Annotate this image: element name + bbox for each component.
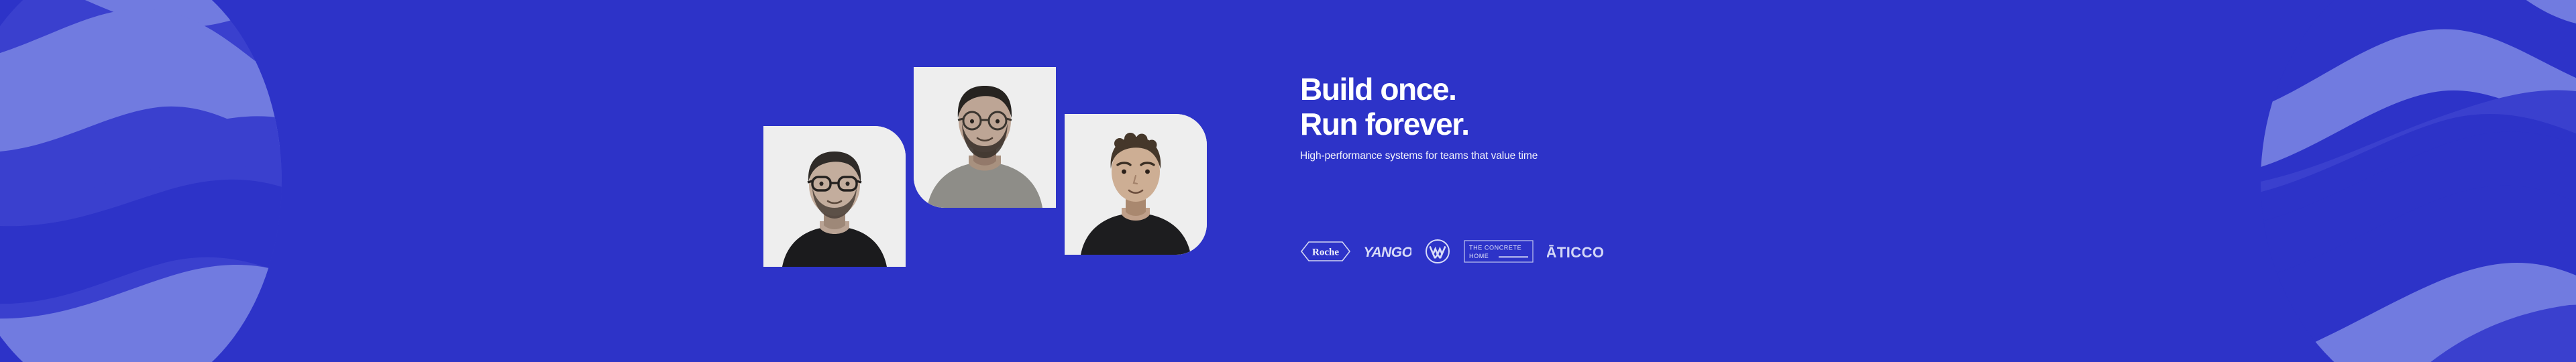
hero-subheadline: High-performance systems for teams that … bbox=[1300, 150, 1729, 162]
headline-line-1: Build once. bbox=[1300, 72, 1729, 107]
roche-wordmark: Roche bbox=[1312, 247, 1339, 258]
hero-banner: Build once. Run forever. High-performanc… bbox=[0, 0, 2576, 362]
portrait-photo bbox=[763, 126, 906, 267]
hero-copy: Build once. Run forever. High-performanc… bbox=[1300, 72, 1729, 162]
portrait-photo bbox=[1065, 114, 1207, 255]
aticco-logo[interactable]: ĀTICCO bbox=[1547, 237, 1603, 265]
volkswagen-logo[interactable] bbox=[1425, 237, 1450, 265]
the-concrete-home-logo[interactable]: THE CONCRETE HOME bbox=[1464, 237, 1534, 265]
hero-content: Build once. Run forever. High-performanc… bbox=[0, 0, 2576, 362]
page-title: Build once. Run forever. bbox=[1300, 72, 1729, 141]
yango-wordmark: YANGO bbox=[1364, 245, 1411, 260]
yango-logo[interactable]: YANGO bbox=[1364, 237, 1411, 265]
concrete-home-line-1: THE CONCRETE bbox=[1469, 245, 1521, 251]
team-photo-card-3[interactable] bbox=[1065, 114, 1207, 255]
aticco-wordmark: ĀTICCO bbox=[1547, 244, 1603, 261]
team-photo-card-2[interactable] bbox=[914, 67, 1056, 208]
headline-line-2: Run forever. bbox=[1300, 107, 1729, 142]
portrait-photo bbox=[914, 67, 1056, 208]
client-logo-strip: Roche YANGO bbox=[1300, 236, 1603, 267]
roche-logo[interactable]: Roche bbox=[1300, 237, 1351, 265]
concrete-home-line-2: HOME bbox=[1469, 253, 1489, 259]
team-photo-card-1[interactable] bbox=[763, 126, 906, 267]
